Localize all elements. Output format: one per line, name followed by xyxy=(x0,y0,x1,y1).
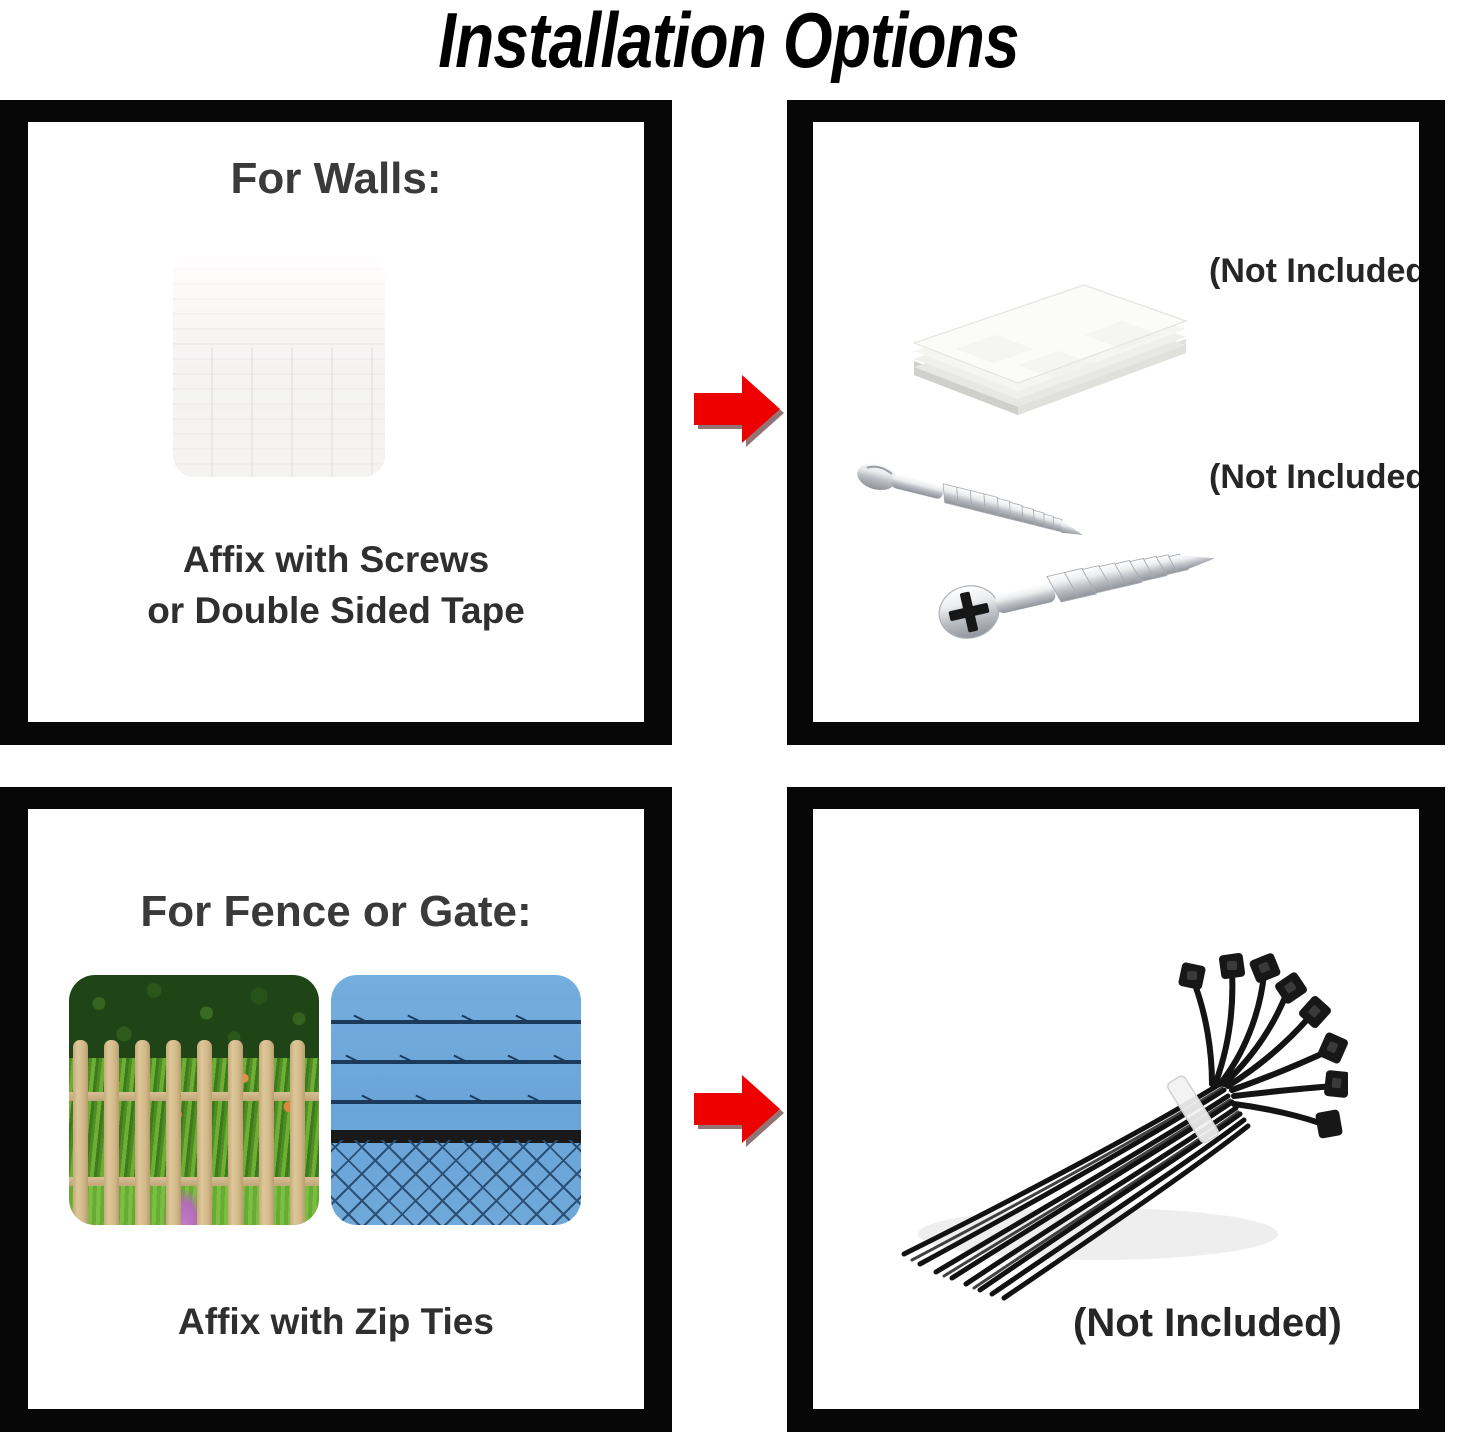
for-walls-caption-line-1: Affix with Screws xyxy=(28,534,644,585)
fence-picket xyxy=(290,1040,305,1225)
page-title: Installation Options xyxy=(131,0,1326,86)
fence-picket xyxy=(73,1040,88,1225)
double-sided-tape-stack-icon xyxy=(898,257,1198,432)
screws-not-included-label: (Not Included) xyxy=(1209,458,1419,497)
fence-pickets-group xyxy=(69,1040,319,1225)
barbed-wire-strand xyxy=(331,1060,581,1064)
fence-picket xyxy=(228,1040,243,1225)
chain-link-mesh xyxy=(331,1140,581,1225)
red-right-arrow-icon xyxy=(686,1070,786,1148)
wooden-picket-fence-photo xyxy=(69,975,319,1225)
panel-for-fence-or-gate-content: For Fence or Gate: xyxy=(28,809,644,1409)
panel-wall-hardware: (Not Included) xyxy=(787,100,1445,745)
for-walls-caption-line-2: or Double Sided Tape xyxy=(28,585,644,636)
fence-picket xyxy=(104,1040,119,1225)
panel-for-walls-content: For Walls: Affix with Screws or Double S… xyxy=(28,122,644,722)
panel-fence-hardware-content: (Not Included) xyxy=(813,809,1419,1409)
for-fence-caption: Affix with Zip Ties xyxy=(28,1296,644,1347)
barbed-wire-chain-link-fence-photo xyxy=(331,975,581,1225)
fence-picket xyxy=(197,1040,212,1225)
panel-wall-hardware-content: (Not Included) xyxy=(813,122,1419,722)
panel-for-walls: For Walls: Affix with Screws or Double S… xyxy=(0,100,672,745)
zipties-not-included-label: (Not Included) xyxy=(1073,1301,1342,1346)
for-fence-caption-line-1: Affix with Zip Ties xyxy=(28,1296,644,1347)
red-right-arrow-icon xyxy=(686,370,786,448)
fence-picket xyxy=(166,1040,181,1225)
for-walls-caption: Affix with Screws or Double Sided Tape xyxy=(28,534,644,636)
screw-lower-icon xyxy=(923,542,1233,652)
fence-picket xyxy=(259,1040,274,1225)
tape-not-included-label: (Not Included) xyxy=(1209,252,1419,291)
photo-haze-overlay xyxy=(173,255,385,477)
fence-picket xyxy=(135,1040,150,1225)
panel-fence-hardware: (Not Included) xyxy=(787,787,1445,1432)
barbed-wire-strand xyxy=(331,1100,581,1104)
screw-upper-icon xyxy=(855,452,1145,542)
for-fence-heading: For Fence or Gate: xyxy=(28,887,644,937)
white-brick-wall-photo xyxy=(173,255,385,477)
zip-tie-bundle-icon xyxy=(868,934,1348,1314)
for-walls-heading: For Walls: xyxy=(28,154,644,204)
panel-for-fence-or-gate: For Fence or Gate: xyxy=(0,787,672,1432)
